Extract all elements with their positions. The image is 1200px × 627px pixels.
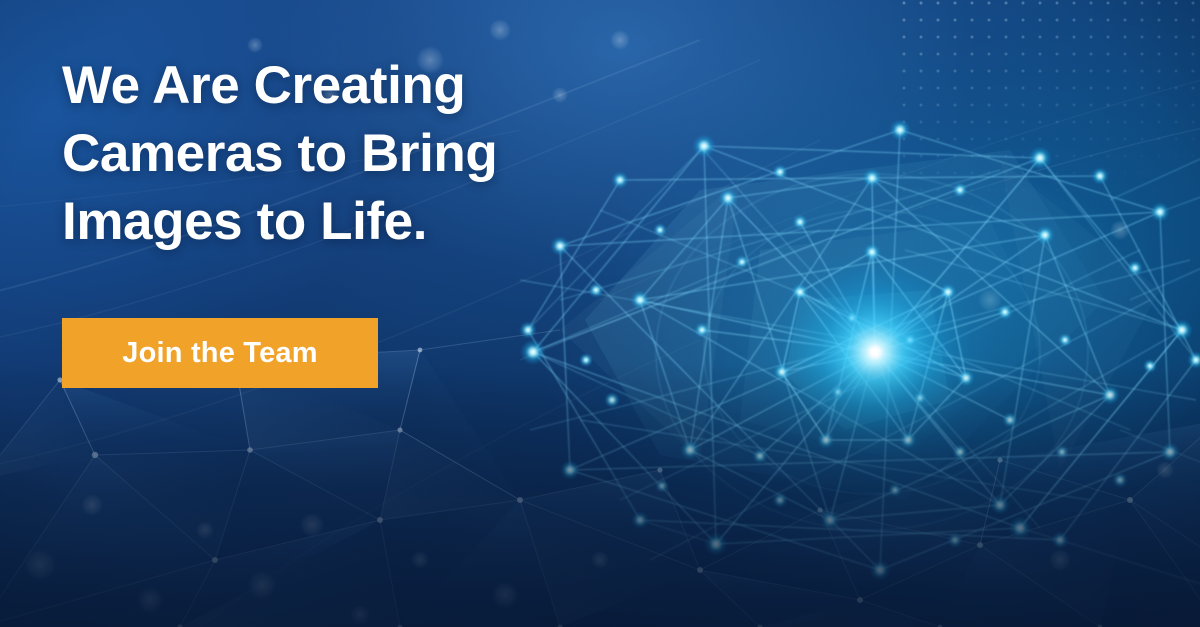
hero-banner: We Are Creating Cameras to Bring Images …: [0, 0, 1200, 627]
page-title: We Are Creating Cameras to Bring Images …: [62, 52, 622, 256]
join-the-team-button[interactable]: Join the Team: [62, 318, 378, 388]
headline-line-1: We Are Creating: [62, 52, 622, 120]
headline-block: We Are Creating Cameras to Bring Images …: [62, 52, 622, 256]
headline-line-2: Cameras to Bring: [62, 120, 622, 188]
headline-line-3: Images to Life.: [62, 188, 622, 256]
